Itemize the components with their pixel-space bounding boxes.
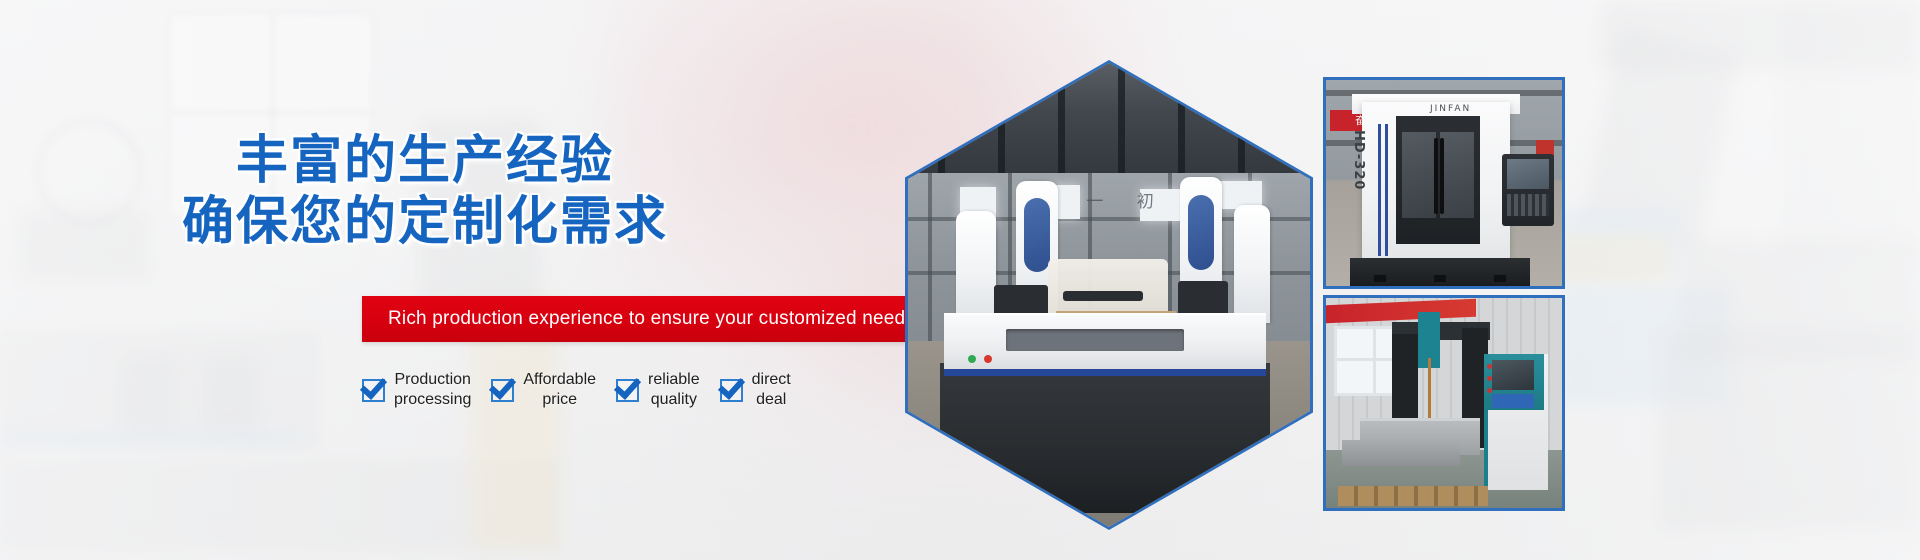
hero-photo-hexagon[interactable]: 定 一 初 (905, 60, 1313, 530)
hexagon-photo: 定 一 初 (908, 63, 1310, 527)
feature-label-line-1: Production (394, 370, 471, 390)
machine-brand-label: JINFAN (1430, 104, 1471, 114)
control-button (1487, 376, 1492, 381)
control-keypad (1492, 394, 1534, 408)
checkbox-checked-icon (616, 379, 639, 402)
machine-stripe (1385, 124, 1388, 256)
feature-label-line-1: direct (752, 370, 791, 390)
control-button (1487, 388, 1492, 393)
subtitle-text: Rich production experience to ensure you… (388, 296, 915, 342)
headline-line-2: 确保您的定制化需求 (0, 191, 850, 252)
machine-bed (944, 313, 1266, 376)
factory-roof (908, 63, 1310, 177)
machine-column (956, 211, 996, 323)
control-button (1487, 364, 1492, 369)
subtitle-bar: Rich production experience to ensure you… (362, 296, 907, 342)
feature-label-line-2: processing (394, 390, 471, 410)
machine-column (1234, 205, 1270, 323)
feature-label-line-1: reliable (648, 370, 700, 390)
machine-stripe (1378, 124, 1381, 256)
checkbox-checked-icon (491, 379, 514, 402)
side-photo-edm-machine[interactable] (1323, 295, 1565, 511)
machine-door (1396, 116, 1480, 244)
side-photo-machining-center[interactable]: 奋力 HD-320 JINFAN (1323, 77, 1565, 289)
checkbox-checked-icon (720, 379, 743, 402)
feature-item[interactable]: Affordable price (491, 370, 596, 409)
feature-label-line-2: deal (752, 390, 791, 410)
machine-plinth (1350, 258, 1530, 286)
machine-red-button (984, 355, 992, 363)
feature-label: reliable quality (648, 370, 700, 409)
banner-text-block: 丰富的生产经验 确保您的定制化需求 Rich production experi… (0, 0, 920, 560)
feature-label: Production processing (394, 370, 471, 409)
feature-label-line-2: price (523, 390, 596, 410)
wooden-pallet (1338, 486, 1488, 506)
control-screen (1492, 360, 1534, 390)
feature-item[interactable]: Production processing (362, 370, 471, 409)
headline-line-1: 丰富的生产经验 (0, 130, 850, 191)
cnc-machine-illustration: 定 一 初 (908, 63, 1310, 527)
machine-base (940, 363, 1270, 513)
feature-label: Affordable price (523, 370, 596, 409)
checkbox-checked-icon (362, 379, 385, 402)
machine-green-button (968, 355, 976, 363)
feature-label-line-2: quality (648, 390, 700, 410)
machine-table (1342, 440, 1460, 466)
machine-arm (1063, 291, 1143, 301)
hexagon-border: 定 一 初 (905, 60, 1313, 530)
headline: 丰富的生产经验 确保您的定制化需求 (0, 130, 850, 253)
machine-model-label: HD-320 (1351, 130, 1366, 190)
feature-item[interactable]: reliable quality (616, 370, 700, 409)
promo-banner: 丰富的生产经验 确保您的定制化需求 Rich production experi… (0, 0, 1920, 560)
feature-item[interactable]: direct deal (720, 370, 791, 409)
feature-label-line-1: Affordable (523, 370, 596, 390)
feature-list: Production processing Affordable price r… (362, 370, 791, 409)
machine-control-panel (1502, 154, 1554, 226)
feature-label: direct deal (752, 370, 791, 409)
